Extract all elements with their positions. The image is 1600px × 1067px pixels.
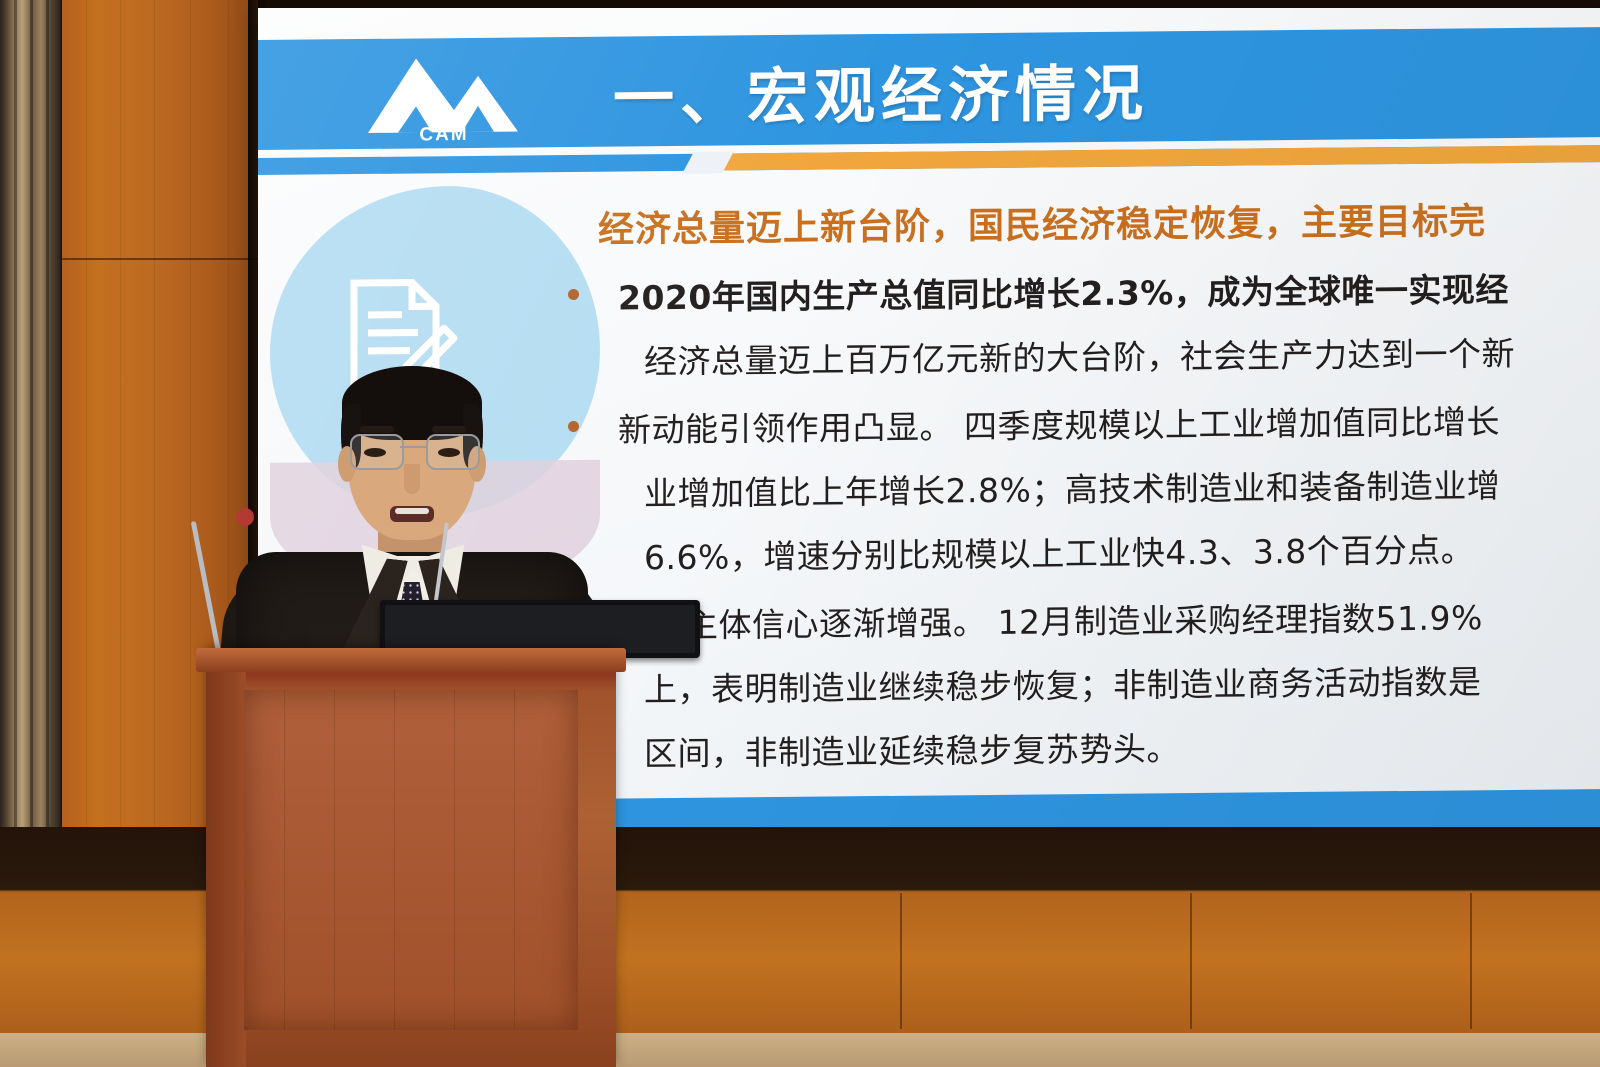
bullet-item: 2020年国内生产总值同比增长2.3%，成为全球唯一实现经 经济总量迈上百万亿元…: [558, 257, 1600, 396]
cam-logo: CAM: [358, 47, 528, 145]
bullet-line: 2020年国内生产总值同比增长2.3%，成为全球唯一实现经: [558, 257, 1600, 332]
slide-accent-orange-line: [712, 144, 1600, 171]
wall-seam: [62, 258, 258, 260]
presentation-photo: 观 CAM 一、宏观经济情况 经济总量迈上新台阶，国民经济稳定恢复，主要目标完 …: [0, 0, 1600, 1067]
svg-text:CAM: CAM: [419, 124, 468, 145]
bullet-line: 区间，非制造业延续稳步复苏势头。: [558, 713, 1600, 788]
bullet-line: 经济总量迈上百万亿元新的大台阶，社会生产力达到一个新: [558, 321, 1600, 396]
mouth: [390, 506, 434, 522]
bullet-line: 上，表明制造业继续稳步恢复；非制造业商务活动指数是: [558, 649, 1600, 724]
microphone-head: [236, 508, 254, 526]
bullet-line: 业增加值比上年增长2.8%；高技术制造业和装备制造业增: [558, 453, 1600, 528]
podium-front-panel: [244, 690, 578, 1030]
bullet-item: 市场主体信心逐渐增强。 12月制造业采购经理指数51.9% 上，表明制造业继续稳…: [558, 585, 1600, 788]
slide-body: 2020年国内生产总值同比增长2.3%，成为全球唯一实现经 经济总量迈上百万亿元…: [558, 257, 1600, 792]
podium-side: [206, 672, 246, 1067]
bullet-dot: [568, 289, 579, 300]
slide-headline: 经济总量迈上新台阶，国民经济稳定恢复，主要目标完: [598, 192, 1486, 253]
eye-left: [364, 448, 386, 457]
bullet-line: 新动能引领作用凸显。 四季度规模以上工业增加值同比增长: [558, 389, 1600, 464]
bullet-line: 6.6%，增速分别比规模以上工业快4.3、3.8个百分点。: [558, 517, 1600, 592]
bullet-line: 市场主体信心逐渐增强。 12月制造业采购经理指数51.9%: [558, 585, 1600, 660]
podium-top-edge: [196, 648, 626, 672]
nose: [404, 464, 420, 494]
bullet-item: 新动能引领作用凸显。 四季度规模以上工业增加值同比增长 业增加值比上年增长2.8…: [558, 389, 1600, 592]
page-title: 一、宏观经济情况: [613, 33, 1149, 146]
eye-right: [438, 448, 460, 457]
